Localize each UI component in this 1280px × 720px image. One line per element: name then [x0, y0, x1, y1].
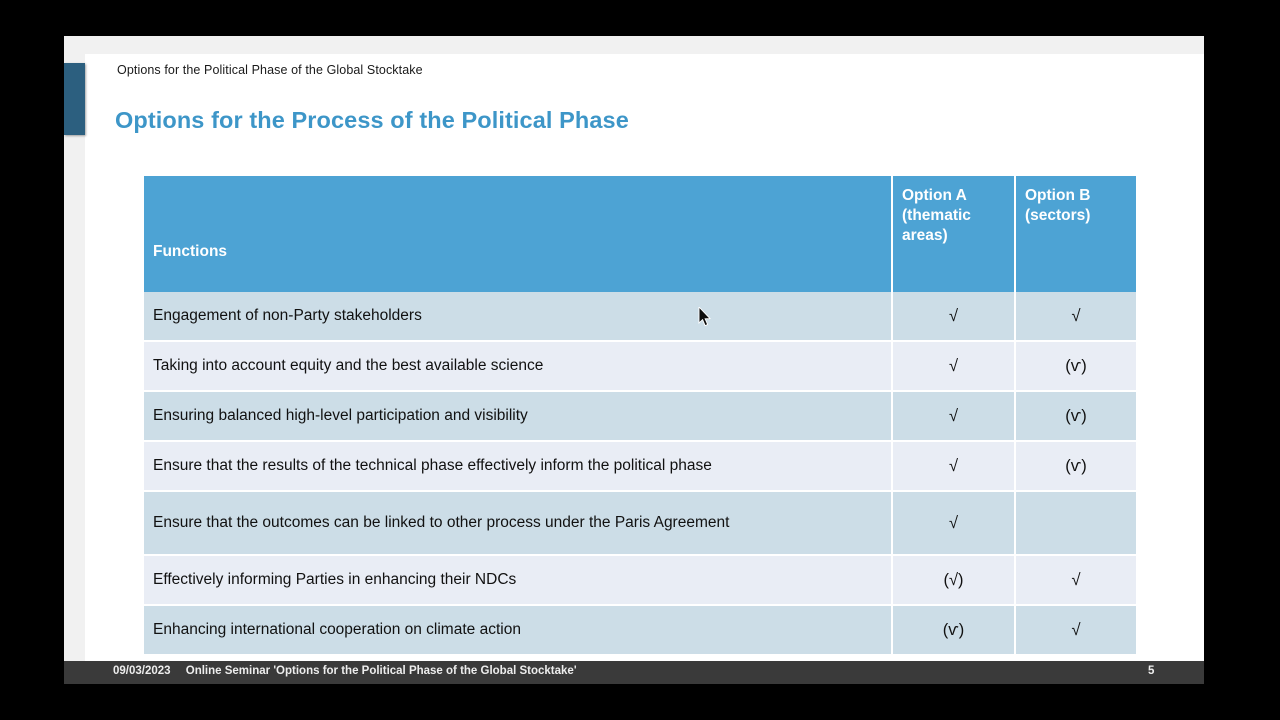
option-a-line-1: Option A [902, 187, 967, 204]
cell-option-b: √ [1015, 605, 1136, 655]
slide-eyebrow-text: Options for the Political Phase of the G… [117, 63, 423, 77]
cell-option-a: √ [892, 441, 1015, 491]
cell-function: Ensuring balanced high-level participati… [144, 391, 892, 441]
table-row: Enhancing international cooperation on c… [144, 605, 1136, 655]
slide-footer: 09/03/2023 Online Seminar 'Options for t… [64, 661, 1204, 684]
cell-option-b: (ѵ) [1015, 391, 1136, 441]
table-header-row: Functions Option A (thematic areas) Opti… [144, 176, 1136, 292]
footer-caption: 09/03/2023 Online Seminar 'Options for t… [113, 665, 577, 677]
footer-event-title: Online Seminar 'Options for the Politica… [186, 665, 577, 677]
cell-option-a: √ [892, 292, 1015, 341]
table-row: Ensure that the results of the technical… [144, 441, 1136, 491]
cell-function: Effectively informing Parties in enhanci… [144, 555, 892, 605]
screen: Options for the Political Phase of the G… [0, 0, 1280, 720]
table-row: Taking into account equity and the best … [144, 341, 1136, 391]
column-header-option-b: Option B (sectors) [1015, 176, 1136, 292]
cell-option-b: √ [1015, 292, 1136, 341]
cell-option-a: √ [892, 491, 1015, 555]
cell-function: Taking into account equity and the best … [144, 341, 892, 391]
cell-option-a: √ [892, 341, 1015, 391]
accent-bar [64, 63, 85, 135]
option-b-line-2: (sectors) [1025, 207, 1090, 224]
cell-function: Ensure that the outcomes can be linked t… [144, 491, 892, 555]
table-body: Engagement of non-Party stakeholders √ √… [144, 292, 1136, 655]
cell-option-b: (ѵ) [1015, 341, 1136, 391]
footer-page-number: 5 [1148, 665, 1154, 677]
column-header-option-a: Option A (thematic areas) [892, 176, 1015, 292]
cell-option-b [1015, 491, 1136, 555]
option-b-line-1: Option B [1025, 187, 1090, 204]
table-row: Ensure that the outcomes can be linked t… [144, 491, 1136, 555]
cell-option-a: √ [892, 391, 1015, 441]
cell-option-a: (√) [892, 555, 1015, 605]
cell-option-b: (ѵ) [1015, 441, 1136, 491]
option-a-line-3: areas) [902, 227, 948, 244]
table-row: Effectively informing Parties in enhanci… [144, 555, 1136, 605]
table-row: Ensuring balanced high-level participati… [144, 391, 1136, 441]
option-a-line-2: (thematic [902, 207, 971, 224]
cell-option-a: (ѵ) [892, 605, 1015, 655]
cell-function: Ensure that the results of the technical… [144, 441, 892, 491]
slide-left-gutter [64, 36, 85, 661]
footer-date: 09/03/2023 [113, 665, 171, 677]
column-header-functions: Functions [144, 176, 892, 292]
presentation-slide: Options for the Political Phase of the G… [64, 36, 1204, 661]
cell-function: Engagement of non-Party stakeholders [144, 292, 892, 341]
cell-function: Enhancing international cooperation on c… [144, 605, 892, 655]
options-table: Functions Option A (thematic areas) Opti… [144, 176, 1136, 656]
page-title: Options for the Process of the Political… [115, 107, 629, 134]
table-row: Engagement of non-Party stakeholders √ √ [144, 292, 1136, 341]
cell-option-b: √ [1015, 555, 1136, 605]
slide-top-band [64, 36, 1204, 54]
table-header: Functions Option A (thematic areas) Opti… [144, 176, 1136, 292]
